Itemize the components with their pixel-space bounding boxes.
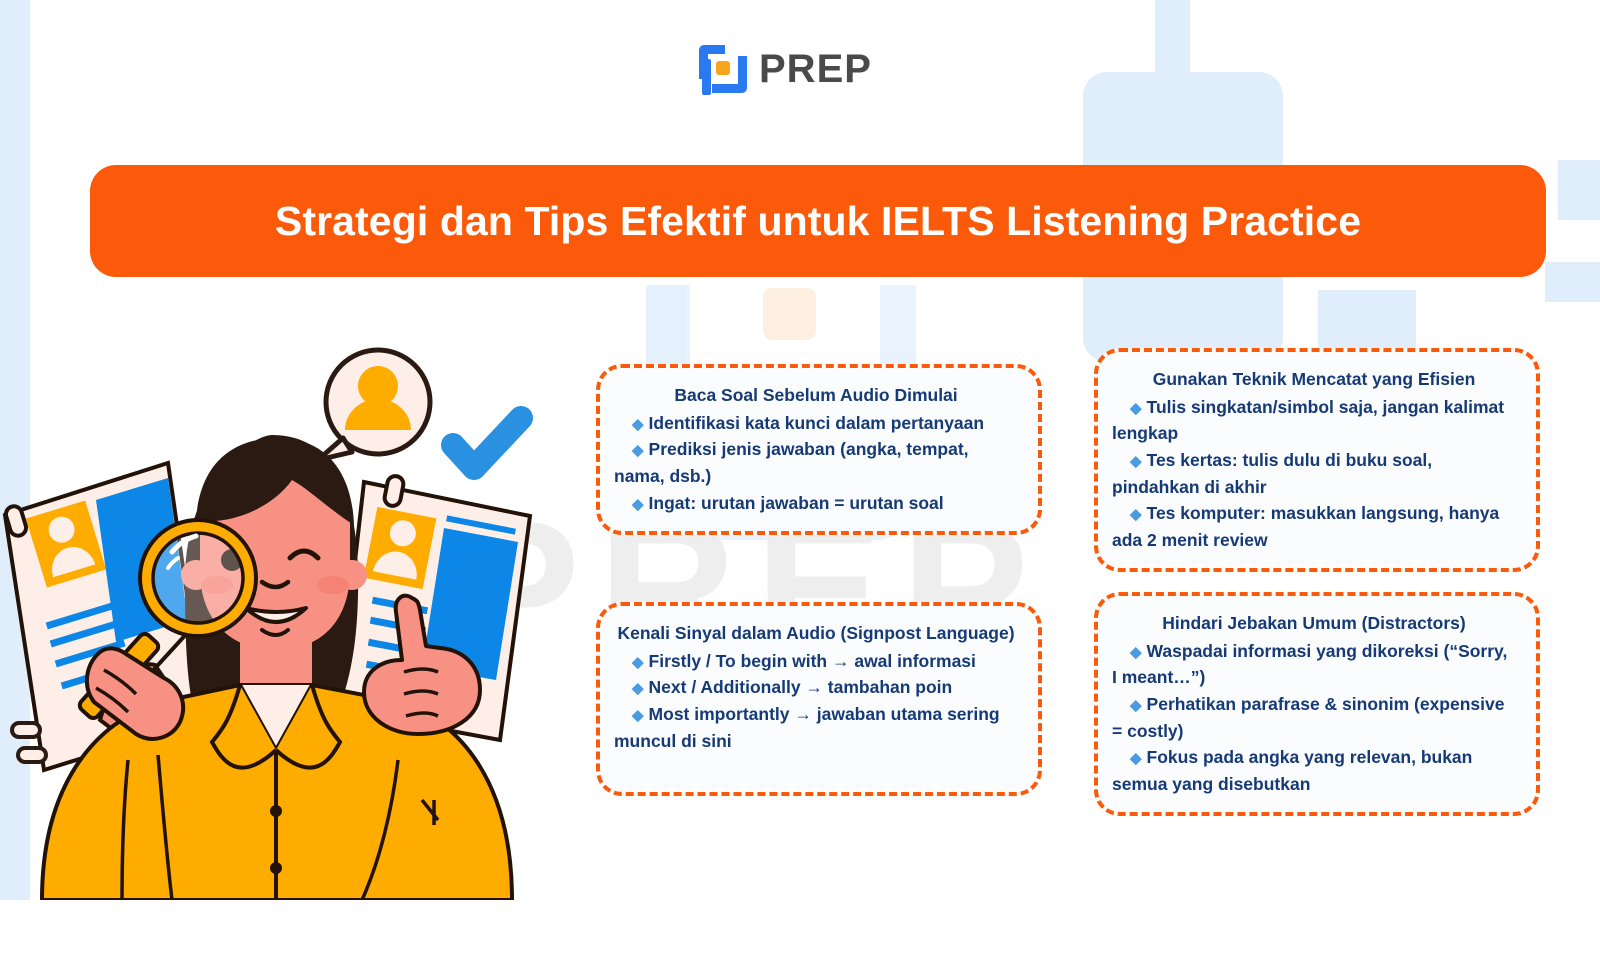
diamond-bullet-icon: ◆ (614, 680, 644, 697)
prep-logo-text: PREP (759, 47, 872, 92)
page-title: Strategi dan Tips Efektif untuk IELTS Li… (275, 198, 1361, 245)
tip-card-item: ◆Prediksi jenis jawaban (angka, tempat, … (614, 436, 1018, 489)
tip-card-item: ◆Fokus pada angka yang relevan, bukan se… (1112, 744, 1516, 797)
tip-card-title: Baca Soal Sebelum Audio Dimulai (614, 382, 1018, 409)
hero-illustration (0, 330, 560, 900)
tip-card-item-text: Firstly / To begin with → awal informasi (649, 651, 976, 671)
tip-card-item-text: Waspadai informasi yang dikoreksi (“Sorr… (1112, 641, 1507, 688)
tip-card-item: ◆Firstly / To begin with → awal informas… (614, 648, 1018, 675)
diamond-bullet-icon: ◆ (614, 654, 644, 671)
tip-card-item-text: Perhatikan parafrase & sinonim (expensiv… (1112, 694, 1504, 741)
tip-card-item: ◆Tes kertas: tulis dulu di buku soal, pi… (1112, 447, 1516, 500)
tip-card: Gunakan Teknik Mencatat yang Efisien ◆Tu… (1094, 348, 1540, 572)
tip-card-item-text: Tulis singkatan/simbol saja, jangan kali… (1112, 397, 1504, 444)
tip-card-title: Hindari Jebakan Umum (Distractors) (1112, 610, 1516, 637)
tip-card-item-text: Tes komputer: masukkan langsung, hanya a… (1112, 503, 1499, 550)
diamond-bullet-icon: ◆ (1112, 453, 1142, 470)
tip-card-item: ◆Perhatikan parafrase & sinonim (expensi… (1112, 691, 1516, 744)
tip-card-title: Kenali Sinyal dalam Audio (Signpost Lang… (614, 620, 1018, 647)
diamond-bullet-icon: ◆ (1112, 400, 1142, 417)
tip-card-item: ◆Tulis singkatan/simbol saja, jangan kal… (1112, 394, 1516, 447)
tip-card-item-text: Identifikasi kata kunci dalam pertanyaan (649, 413, 985, 433)
background-blue-accent-top-right (1558, 160, 1600, 220)
tip-card-item-text: Ingat: urutan jawaban = urutan soal (649, 493, 944, 513)
tip-card-item-text: Fokus pada angka yang relevan, bukan sem… (1112, 747, 1472, 794)
tip-card-item: ◆Next / Additionally → tambahan poin (614, 674, 1018, 701)
tip-card-item-text: Prediksi jenis jawaban (angka, tempat, n… (614, 439, 969, 486)
tip-card: Hindari Jebakan Umum (Distractors) ◆Wasp… (1094, 592, 1540, 816)
tip-card-item: ◆Identifikasi kata kunci dalam pertanyaa… (614, 410, 1018, 437)
background-blue-accent-right (1545, 262, 1600, 302)
diamond-bullet-icon: ◆ (614, 707, 644, 724)
tip-card-item-text: Next / Additionally → tambahan poin (649, 677, 953, 697)
speech-bubble-icon (318, 350, 430, 460)
diamond-bullet-icon: ◆ (614, 416, 644, 433)
prep-logo: PREP (699, 44, 872, 94)
tip-card-item: ◆Ingat: urutan jawaban = urutan soal (614, 490, 1018, 517)
tip-card-item: ◆Waspadai informasi yang dikoreksi (“Sor… (1112, 638, 1516, 691)
tip-card-title: Gunakan Teknik Mencatat yang Efisien (1112, 366, 1516, 393)
tip-card-item: ◆Tes komputer: masukkan langsung, hanya … (1112, 500, 1516, 553)
tip-card: Baca Soal Sebelum Audio Dimulai ◆Identif… (596, 364, 1042, 535)
tip-card-item: ◆Most importantly → jawaban utama sering… (614, 701, 1018, 754)
tip-card-item-text: Tes kertas: tulis dulu di buku soal, pin… (1112, 450, 1432, 497)
check-mark-icon (453, 418, 521, 468)
diamond-bullet-icon: ◆ (614, 442, 644, 459)
diamond-bullet-icon: ◆ (1112, 697, 1142, 714)
diamond-bullet-icon: ◆ (1112, 506, 1142, 523)
infographic-canvas: PREP PREP Strategi dan Tips Efektif untu… (0, 0, 1600, 900)
diamond-bullet-icon: ◆ (1112, 750, 1142, 767)
diamond-bullet-icon: ◆ (1112, 644, 1142, 661)
tip-card-item-text: Most importantly → jawaban utama sering … (614, 704, 1000, 751)
tip-card: Kenali Sinyal dalam Audio (Signpost Lang… (596, 602, 1042, 796)
watermark-logo-secondary-square (763, 288, 816, 340)
prep-logo-icon (699, 45, 747, 93)
diamond-bullet-icon: ◆ (614, 496, 644, 513)
title-banner: Strategi dan Tips Efektif untuk IELTS Li… (90, 165, 1546, 277)
